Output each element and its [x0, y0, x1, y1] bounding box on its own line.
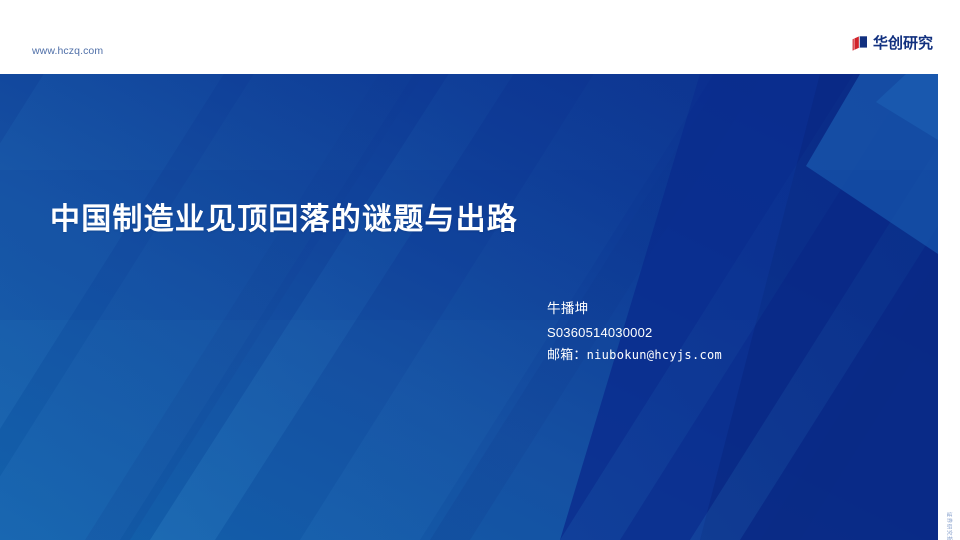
banner-background-pattern	[0, 74, 938, 540]
author-block: 牛播坤 S0360514030002 邮箱：niubokun@hcyjs.com	[547, 298, 722, 367]
cover-banner	[0, 74, 938, 540]
side-vertical-label: 证券研究报告	[940, 474, 958, 534]
cover-slide: www.hczq.com 华创研究	[0, 0, 960, 540]
author-email-label: 邮箱：	[547, 348, 587, 363]
side-vertical-label-text: 证券研究报告	[945, 512, 953, 540]
author-email-row: 邮箱：niubokun@hcyjs.com	[547, 344, 722, 367]
author-license-code: S0360514030002	[547, 321, 722, 344]
cube-logo-icon	[852, 35, 869, 52]
site-url[interactable]: www.hczq.com	[32, 45, 103, 57]
author-email-value[interactable]: niubokun@hcyjs.com	[587, 348, 722, 362]
page-title: 中国制造业见顶回落的谜题与出路	[50, 201, 518, 239]
brand-logo: 华创研究	[852, 33, 933, 53]
author-name: 牛播坤	[547, 298, 722, 321]
slide-header: www.hczq.com 华创研究	[0, 0, 960, 74]
brand-name: 华创研究	[873, 35, 933, 52]
